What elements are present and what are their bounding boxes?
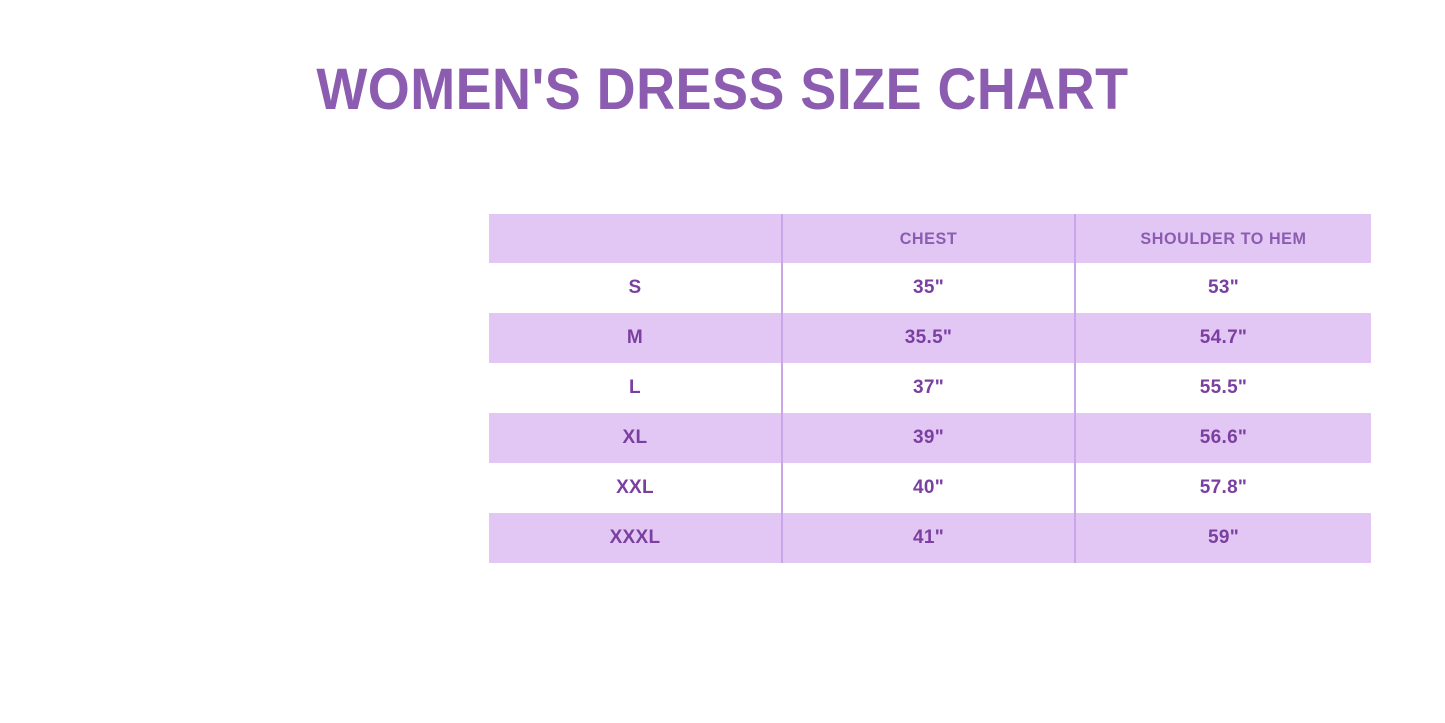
size-chart-page: WOMEN'S DRESS SIZE CHART CHEST SHOULDER … xyxy=(0,0,1445,723)
column-header-chest: CHEST xyxy=(789,214,1067,263)
size-chart-table: CHEST SHOULDER TO HEM S35"53"M35.5"54.7"… xyxy=(489,214,1371,563)
table-row: L37"55.5" xyxy=(489,363,1371,413)
table-header-row: CHEST SHOULDER TO HEM xyxy=(489,214,1371,263)
cell-shoulder-to-hem: 59" xyxy=(1075,513,1371,563)
table-row: XXXL41"59" xyxy=(489,513,1371,563)
cell-shoulder-to-hem: 53" xyxy=(1075,263,1371,313)
cell-chest: 39" xyxy=(782,413,1075,463)
column-header-shoulder-to-hem: SHOULDER TO HEM xyxy=(1082,214,1363,263)
table-row: XL39"56.6" xyxy=(489,413,1371,463)
table-row: M35.5"54.7" xyxy=(489,313,1371,363)
table-header: CHEST SHOULDER TO HEM xyxy=(489,214,1371,263)
table-row: S35"53" xyxy=(489,263,1371,313)
cell-size: M xyxy=(489,313,782,363)
cell-chest: 35" xyxy=(782,263,1075,313)
cell-size: S xyxy=(489,263,782,313)
cell-size: XL xyxy=(489,413,782,463)
cell-size: XXXL xyxy=(489,513,782,563)
table-row: XXL40"57.8" xyxy=(489,463,1371,513)
cell-chest: 40" xyxy=(782,463,1075,513)
table-body: S35"53"M35.5"54.7"L37"55.5"XL39"56.6"XXL… xyxy=(489,263,1371,563)
cell-shoulder-to-hem: 56.6" xyxy=(1075,413,1371,463)
cell-shoulder-to-hem: 54.7" xyxy=(1075,313,1371,363)
cell-chest: 35.5" xyxy=(782,313,1075,363)
column-header-size xyxy=(496,214,774,263)
cell-size: XXL xyxy=(489,463,782,513)
cell-shoulder-to-hem: 57.8" xyxy=(1075,463,1371,513)
cell-chest: 41" xyxy=(782,513,1075,563)
size-chart-table-container: CHEST SHOULDER TO HEM S35"53"M35.5"54.7"… xyxy=(489,214,1371,563)
page-title: WOMEN'S DRESS SIZE CHART xyxy=(51,56,1395,123)
cell-size: L xyxy=(489,363,782,413)
cell-chest: 37" xyxy=(782,363,1075,413)
cell-shoulder-to-hem: 55.5" xyxy=(1075,363,1371,413)
